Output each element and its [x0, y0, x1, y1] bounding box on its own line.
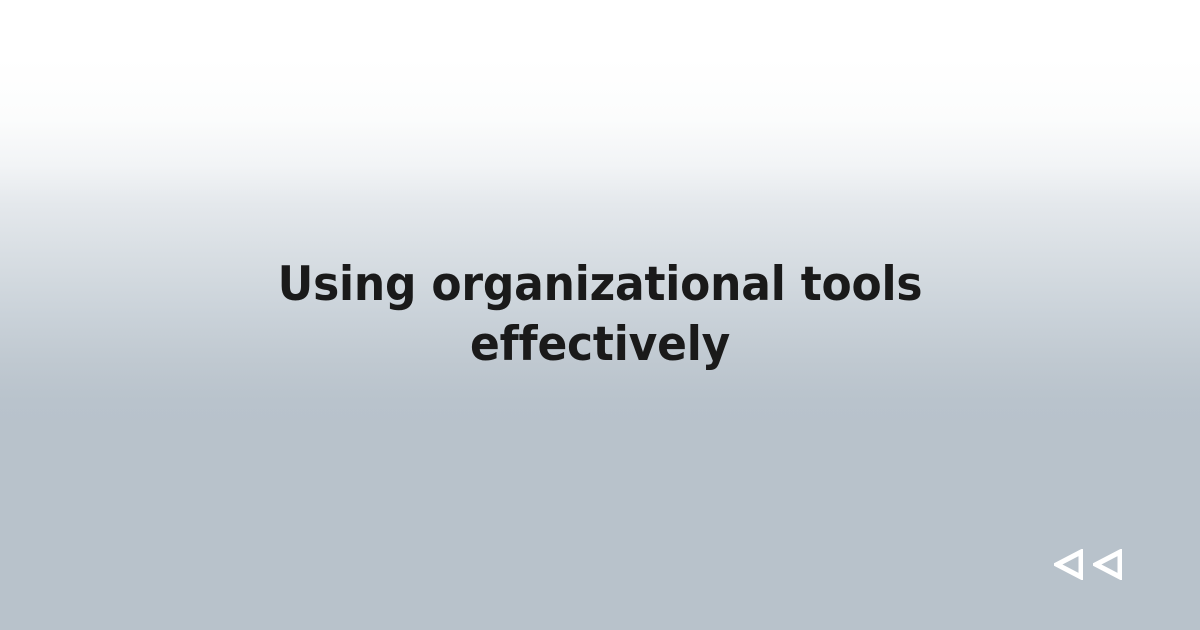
rewind-arrow-first[interactable]: [1054, 549, 1083, 580]
triangle-left-icon: [1054, 549, 1083, 580]
banner-card: Using organizational tools effectively: [0, 0, 1200, 630]
rewind-arrow-second[interactable]: [1093, 549, 1122, 580]
rewind-control[interactable]: [1054, 549, 1122, 580]
title-block: Using organizational tools effectively: [0, 0, 1200, 630]
triangle-left-icon: [1093, 549, 1122, 580]
page-title: Using organizational tools effectively: [273, 255, 928, 375]
